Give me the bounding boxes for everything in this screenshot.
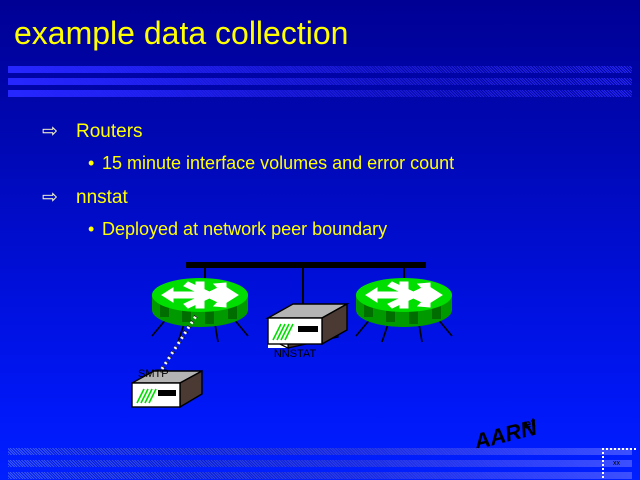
server-front: [268, 318, 322, 344]
router-leg: [356, 312, 376, 336]
server-front-panel: [268, 329, 288, 348]
bottom-decorative-bars: [8, 448, 632, 480]
server-label-smtp: SMTP: [138, 368, 169, 380]
router-leg: [178, 318, 186, 342]
router-right: [356, 278, 452, 342]
bullet-label: 15 minute interface volumes and error co…: [102, 153, 454, 173]
smtp-link-line: [160, 316, 196, 372]
router-body-segments: [160, 303, 237, 324]
router-top: [356, 278, 452, 312]
slide-number-text: xx: [613, 460, 620, 467]
top-decorative-bars: [8, 66, 632, 102]
server-slot: [158, 390, 176, 396]
dot-bullet-icon: •: [88, 219, 102, 240]
server-nnstat: [268, 306, 338, 348]
bullet-item-routers: ⇨Routers: [42, 120, 143, 143]
server-front-body: [268, 318, 288, 348]
server-side-face: [288, 317, 338, 348]
router-left: [152, 278, 248, 342]
router-body: [152, 295, 248, 327]
router-leg: [228, 312, 248, 336]
page-title: example data collection: [14, 14, 348, 52]
server-face: [268, 318, 288, 348]
bullet-label: Routers: [76, 121, 143, 143]
right-arrow-bullet-icon: ⇨: [42, 120, 76, 143]
decorative-bar: [8, 460, 632, 467]
bullet-item-nnstat: ⇨nnstat: [42, 186, 128, 209]
server-right-side: [180, 371, 202, 407]
slide-number-box: xx: [602, 448, 636, 478]
server-front: [132, 383, 180, 407]
decorative-bar: [8, 472, 632, 479]
bullet-label: Deployed at network peer boundary: [102, 219, 387, 239]
server-vent-stripes: [137, 389, 156, 403]
dot-bullet-icon: •: [88, 153, 102, 174]
backbone-bar: [186, 262, 426, 268]
server-right-side: [322, 304, 347, 344]
decorative-bar: [8, 66, 632, 73]
router-body-segments: [364, 303, 441, 324]
bullet-label: nnstat: [76, 187, 128, 209]
bullet-item-interface-volumes: •15 minute interface volumes and error c…: [88, 153, 454, 174]
decorative-bar: [8, 90, 632, 97]
server-vent-stripes: [273, 324, 293, 340]
server-top: [132, 371, 202, 383]
smtp-link-line-outline: [160, 316, 196, 372]
server-smtp-box: SMTP: [132, 368, 202, 407]
server-front-face: [268, 318, 288, 348]
router-leg: [418, 318, 422, 342]
router-top: [152, 278, 248, 312]
decorative-bar: [8, 448, 632, 455]
aarnet-logo-suffix: et: [522, 415, 537, 433]
router-leg: [152, 312, 172, 336]
server-nnstat-box: NNSTAT: [268, 304, 347, 360]
slide-canvas: example data collection ⇨Routers •15 min…: [0, 0, 640, 480]
router-arrow-icon: [366, 282, 442, 308]
router-leg: [382, 318, 390, 342]
server-top: [268, 304, 347, 318]
router-leg: [432, 312, 452, 336]
server-slot: [298, 326, 318, 332]
router-arrow-icon: [162, 282, 238, 308]
router-body: [356, 295, 452, 327]
decorative-bar: [8, 78, 632, 85]
router-leg: [214, 318, 218, 342]
server-front-detail: [268, 317, 338, 338]
right-arrow-bullet-icon: ⇨: [42, 186, 76, 209]
server-label-nnstat: NNSTAT: [274, 348, 317, 360]
server-top-face: [268, 306, 338, 329]
bullet-item-peer-boundary: •Deployed at network peer boundary: [88, 219, 387, 240]
